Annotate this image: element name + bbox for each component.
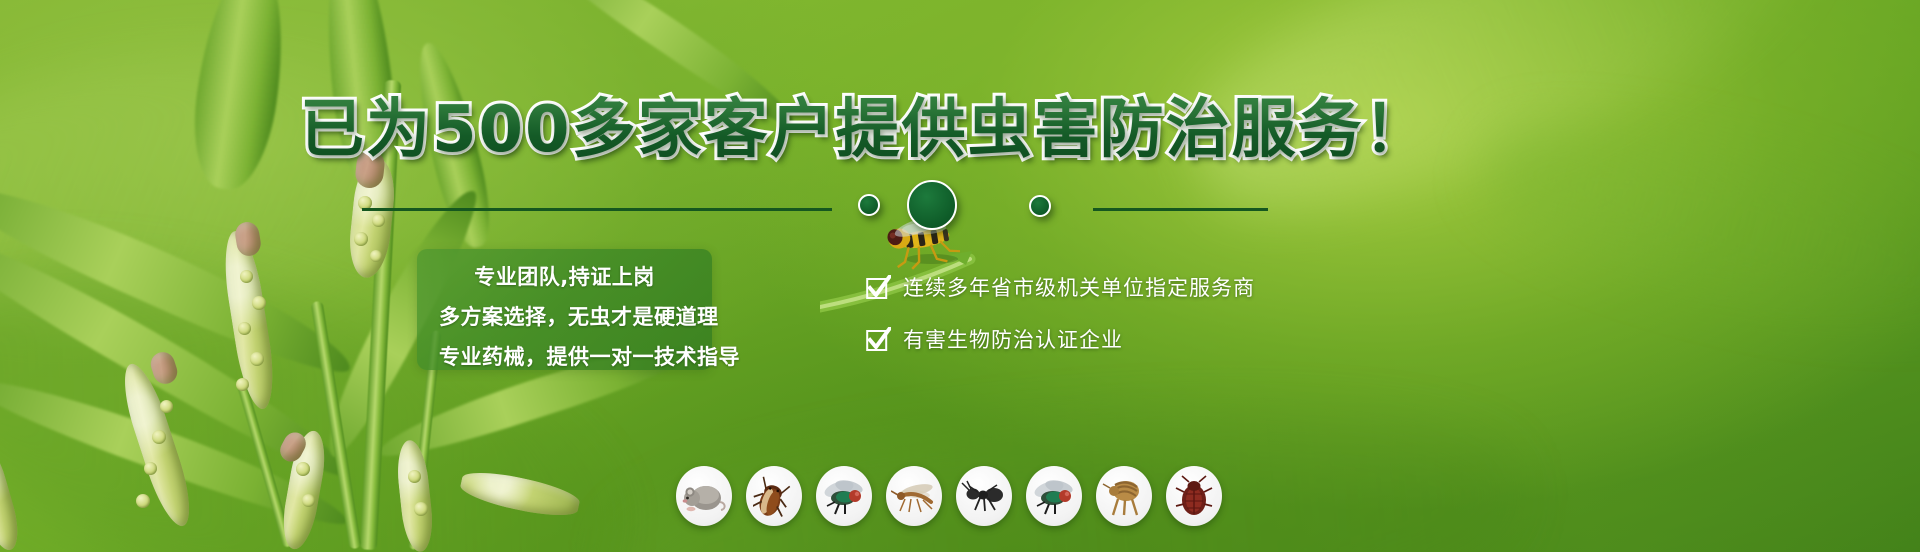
- flower-bud: [240, 270, 253, 283]
- pest-icon-row: [676, 466, 1222, 526]
- divider-rule-left: [362, 208, 832, 211]
- credential-item: 有害生物防治认证企业: [866, 324, 1255, 354]
- flower-bud: [296, 462, 310, 476]
- page-title: 已为500多家客户提供虫害防治服务！: [300, 78, 1430, 170]
- flower-bud: [236, 378, 249, 391]
- fly-icon: [816, 466, 872, 526]
- decor-dot-small-right: [1029, 195, 1051, 217]
- credential-item: 连续多年省市级机关单位指定服务商: [866, 272, 1255, 302]
- mosquito-icon: [886, 466, 942, 526]
- flower-spike: [0, 438, 25, 552]
- credential-label: 有害生物防治认证企业: [903, 324, 1123, 354]
- flea-icon: [1096, 466, 1152, 526]
- flower-bud: [414, 502, 428, 516]
- flower-bud: [302, 494, 315, 507]
- features-line-1: 专业团队,持证上岗: [417, 261, 712, 291]
- decor-dot-small-left: [858, 194, 880, 216]
- flower-bud: [252, 296, 266, 310]
- promo-banner: 已为500多家客户提供虫害防治服务！ 已为500多家客户提供虫害防治服务！ 专业…: [0, 0, 1920, 552]
- flower-bud: [250, 352, 264, 366]
- features-line-2: 多方案选择，无虫才是硬道理: [439, 301, 809, 331]
- flower-bud: [408, 470, 421, 483]
- rodent-icon: [676, 466, 732, 526]
- ant-icon: [956, 466, 1012, 526]
- bedbug-icon: [1166, 466, 1222, 526]
- flower-bud: [354, 232, 368, 246]
- leaf-blade: [184, 0, 295, 194]
- flower-bud: [370, 250, 382, 262]
- flower-bud: [144, 462, 157, 475]
- flower-bud: [152, 430, 166, 444]
- flower-bud: [238, 322, 251, 335]
- decor-dot-large: [907, 180, 957, 230]
- blowfly-icon: [1026, 466, 1082, 526]
- flower-bud: [160, 400, 173, 413]
- flower-spike: [394, 439, 436, 552]
- checkbox-checked-icon: [866, 275, 891, 300]
- credentials-list: 连续多年省市级机关单位指定服务商 有害生物防治认证企业: [866, 272, 1255, 376]
- features-line-3: 专业药械，提供一对一技术指导: [439, 341, 809, 371]
- checkbox-checked-icon: [866, 327, 891, 352]
- flower-bud: [136, 494, 150, 508]
- cockroach-icon: [746, 466, 802, 526]
- divider-rule-right: [1093, 208, 1268, 211]
- flower-bud: [372, 214, 385, 227]
- flower-spike: [458, 466, 582, 522]
- credential-label: 连续多年省市级机关单位指定服务商: [903, 272, 1255, 302]
- features-box: 专业团队,持证上岗 多方案选择，无虫才是硬道理 专业药械，提供一对一技术指导: [417, 249, 712, 370]
